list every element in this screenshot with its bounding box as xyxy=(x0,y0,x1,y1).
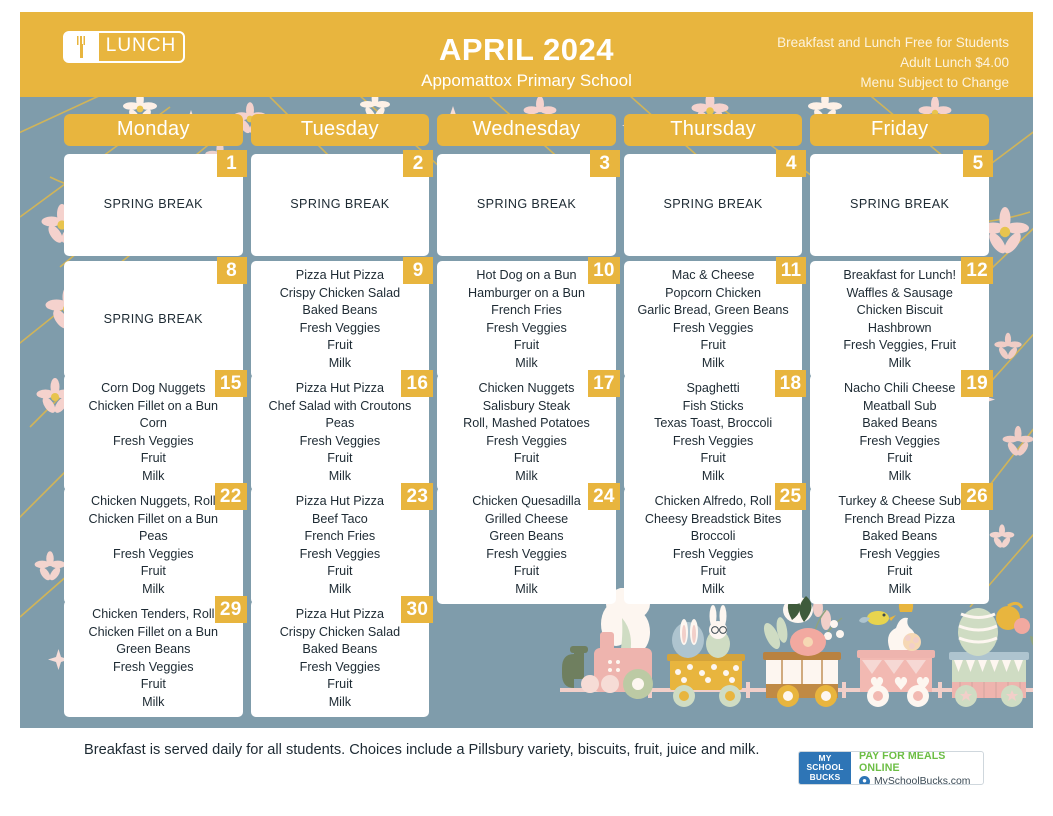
menu-item: Meatball Sub xyxy=(818,398,981,416)
menu-item-list: Pizza Hut PizzaBeef TacoFrench FriesFres… xyxy=(259,493,422,598)
calendar-week-row: 22Chicken Nuggets, RollChicken Fillet on… xyxy=(64,487,989,595)
menu-item: Baked Beans xyxy=(259,302,422,320)
menu-item: Milk xyxy=(259,581,422,599)
menu-item: Mac & Cheese xyxy=(632,267,795,285)
date-badge: 16 xyxy=(401,370,433,397)
menu-item: Fresh Veggies xyxy=(632,433,795,451)
date-badge: 25 xyxy=(775,483,807,510)
menu-item-list: Chicken Nuggets, RollChicken Fillet on a… xyxy=(72,493,235,598)
closed-notice: SPRING BREAK xyxy=(632,196,795,214)
menu-item: Fresh Veggies xyxy=(259,659,422,677)
calendar-day-cell[interactable]: 30Pizza Hut PizzaCrispy Chicken SaladBak… xyxy=(251,600,430,717)
calendar-day-cell[interactable]: 15Corn Dog NuggetsChicken Fillet on a Bu… xyxy=(64,374,243,491)
menu-item: Roll, Mashed Potatoes xyxy=(445,415,608,433)
menu-item: Fresh Veggies xyxy=(259,546,422,564)
menu-item: Milk xyxy=(72,694,235,712)
closed-label: SPRING BREAK xyxy=(445,196,608,214)
calendar-cell-empty xyxy=(810,600,989,717)
calendar-day-cell[interactable]: 25Chicken Alfredo, RollCheesy Breadstick… xyxy=(624,487,803,604)
menu-item: Chicken Biscuit xyxy=(818,302,981,320)
date-badge: 4 xyxy=(776,150,806,177)
myschoolbucks-banner[interactable]: MY SCHOOL BUCKS PAY FOR MEALS ONLINE ● M… xyxy=(798,751,984,785)
closed-label: SPRING BREAK xyxy=(72,196,235,214)
menu-item: Milk xyxy=(445,468,608,486)
menu-item-list: Chicken NuggetsSalisbury SteakRoll, Mash… xyxy=(445,380,608,485)
menu-item: Corn xyxy=(72,415,235,433)
calendar-day-cell[interactable]: 1SPRING BREAK xyxy=(64,154,243,256)
calendar-cell-empty xyxy=(624,600,803,717)
calendar-day-cell[interactable]: 5SPRING BREAK xyxy=(810,154,989,256)
menu-item: Cheesy Breadstick Bites xyxy=(632,511,795,529)
calendar-day-cell[interactable]: 10Hot Dog on a BunHamburger on a BunFren… xyxy=(437,261,616,378)
date-badge: 18 xyxy=(775,370,807,397)
menu-item: Fresh Veggies xyxy=(818,546,981,564)
menu-item: Fruit xyxy=(259,337,422,355)
day-header-friday: Friday xyxy=(810,114,989,146)
menu-item-list: Pizza Hut PizzaChef Salad with CroutonsP… xyxy=(259,380,422,485)
menu-item: Nacho Chili Cheese xyxy=(818,380,981,398)
menu-item: Fish Sticks xyxy=(632,398,795,416)
menu-item: French Fries xyxy=(445,302,608,320)
menu-item: Chicken Fillet on a Bun xyxy=(72,511,235,529)
menu-item: Fruit xyxy=(445,337,608,355)
menu-item: Fresh Veggies xyxy=(445,433,608,451)
day-name-row: Monday Tuesday Wednesday Thursday Friday xyxy=(64,114,989,146)
calendar-day-cell[interactable]: 12Breakfast for Lunch!Waffles & SausageC… xyxy=(810,261,989,378)
menu-item: Fruit xyxy=(445,563,608,581)
calendar-week-row: 29Chicken Tenders, RollChicken Fillet on… xyxy=(64,600,989,708)
fork-icon xyxy=(65,33,99,61)
menu-item: Fruit xyxy=(72,450,235,468)
myschoolbucks-text: PAY FOR MEALS ONLINE ● MySchoolBucks.com xyxy=(851,752,983,784)
menu-item: Salisbury Steak xyxy=(445,398,608,416)
date-badge: 5 xyxy=(963,150,993,177)
date-badge: 29 xyxy=(215,596,247,623)
menu-item: Baked Beans xyxy=(259,641,422,659)
msb-badge-line3: BUCKS xyxy=(810,773,841,782)
menu-item: Fresh Veggies xyxy=(72,546,235,564)
date-badge: 2 xyxy=(403,150,433,177)
menu-item: Crispy Chicken Salad xyxy=(259,624,422,642)
menu-item: Hashbrown xyxy=(818,320,981,338)
menu-item: Fresh Veggies xyxy=(632,320,795,338)
menu-item: Chicken Quesadilla xyxy=(445,493,608,511)
date-badge: 8 xyxy=(217,257,247,284)
menu-item: Fresh Veggies xyxy=(259,433,422,451)
menu-item: Spaghetti xyxy=(632,380,795,398)
day-header-monday: Monday xyxy=(64,114,243,146)
menu-item: Milk xyxy=(632,468,795,486)
menu-item: Fruit xyxy=(632,563,795,581)
date-badge: 10 xyxy=(588,257,620,284)
menu-item: Peas xyxy=(259,415,422,433)
breakfast-note: Breakfast is served daily for all studen… xyxy=(84,742,759,758)
menu-item-list: Chicken QuesadillaGrilled CheeseGreen Be… xyxy=(445,493,608,598)
menu-item: Fruit xyxy=(818,450,981,468)
menu-item-list: Pizza Hut PizzaCrispy Chicken SaladBaked… xyxy=(259,606,422,711)
menu-item: Milk xyxy=(632,581,795,599)
menu-item: Fruit xyxy=(259,563,422,581)
menu-item: Garlic Bread, Green Beans xyxy=(632,302,795,320)
calendar-day-cell[interactable]: 18SpaghettiFish SticksTexas Toast, Brocc… xyxy=(624,374,803,491)
menu-item: Fresh Veggies xyxy=(259,320,422,338)
date-badge: 22 xyxy=(215,483,247,510)
menu-item: Corn Dog Nuggets xyxy=(72,380,235,398)
date-badge: 1 xyxy=(217,150,247,177)
date-badge: 19 xyxy=(961,370,993,397)
menu-item: Milk xyxy=(259,694,422,712)
date-badge: 17 xyxy=(588,370,620,397)
menu-item: Fruit xyxy=(632,450,795,468)
menu-item: Hot Dog on a Bun xyxy=(445,267,608,285)
calendar-weeks: 1SPRING BREAK2SPRING BREAK3SPRING BREAK4… xyxy=(64,154,989,708)
menu-item: Milk xyxy=(632,355,795,373)
menu-item: Fruit xyxy=(445,450,608,468)
calendar-day-cell[interactable]: 16Pizza Hut PizzaChef Salad with Crouton… xyxy=(251,374,430,491)
msb-website-row: ● MySchoolBucks.com xyxy=(859,776,983,786)
calendar-body: Monday Tuesday Wednesday Thursday Friday… xyxy=(20,97,1033,728)
menu-item: Broccoli xyxy=(632,528,795,546)
closed-label: SPRING BREAK xyxy=(259,196,422,214)
closed-label: SPRING BREAK xyxy=(818,196,981,214)
calendar-cell-empty xyxy=(437,600,616,717)
menu-item: Crispy Chicken Salad xyxy=(259,285,422,303)
menu-item: Milk xyxy=(818,581,981,599)
menu-item: Fresh Veggies xyxy=(445,546,608,564)
closed-notice: SPRING BREAK xyxy=(72,196,235,214)
menu-item: Fruit xyxy=(259,450,422,468)
lunch-logo-label: LUNCH xyxy=(99,33,183,61)
menu-item: Hamburger on a Bun xyxy=(445,285,608,303)
menu-item: Fresh Veggies xyxy=(72,659,235,677)
menu-item: Milk xyxy=(445,355,608,373)
calendar-day-cell[interactable]: 24Chicken QuesadillaGrilled CheeseGreen … xyxy=(437,487,616,604)
menu-item: Grilled Cheese xyxy=(445,511,608,529)
menu-item: Chicken Tenders, Roll xyxy=(72,606,235,624)
menu-item: Green Beans xyxy=(72,641,235,659)
day-header-tuesday: Tuesday xyxy=(251,114,430,146)
calendar-day-cell[interactable]: 22Chicken Nuggets, RollChicken Fillet on… xyxy=(64,487,243,604)
menu-item: Chicken Nuggets, Roll xyxy=(72,493,235,511)
calendar-grid: Monday Tuesday Wednesday Thursday Friday… xyxy=(20,97,1033,728)
menu-item: Baked Beans xyxy=(818,415,981,433)
menu-item: Milk xyxy=(72,581,235,599)
menu-item: Chicken Fillet on a Bun xyxy=(72,398,235,416)
calendar-day-cell[interactable]: 3SPRING BREAK xyxy=(437,154,616,256)
menu-item: Milk xyxy=(818,468,981,486)
closed-notice: SPRING BREAK xyxy=(72,311,235,329)
menu-item: Milk xyxy=(445,581,608,599)
calendar-day-cell[interactable]: 11Mac & CheesePopcorn ChickenGarlic Brea… xyxy=(624,261,803,378)
date-badge: 30 xyxy=(401,596,433,623)
menu-item: Green Beans xyxy=(445,528,608,546)
calendar-week-row: 15Corn Dog NuggetsChicken Fillet on a Bu… xyxy=(64,374,989,482)
lunch-logo: LUNCH xyxy=(63,31,185,63)
menu-item: Waffles & Sausage xyxy=(818,285,981,303)
menu-item: Fresh Veggies xyxy=(72,433,235,451)
menu-item: Fruit xyxy=(72,563,235,581)
menu-item: Fresh Veggies xyxy=(445,320,608,338)
lunch-menu-calendar-page: LUNCH APRIL 2024 Appomattox Primary Scho… xyxy=(0,0,1053,816)
date-badge: 3 xyxy=(590,150,620,177)
menu-item: Chicken Alfredo, Roll xyxy=(632,493,795,511)
menu-item: Chicken Nuggets xyxy=(445,380,608,398)
calendar-day-cell[interactable]: 2SPRING BREAK xyxy=(251,154,430,256)
menu-item: Popcorn Chicken xyxy=(632,285,795,303)
menu-item-list: Breakfast for Lunch!Waffles & SausageChi… xyxy=(818,267,981,372)
menu-item: Fresh Veggies xyxy=(818,433,981,451)
menu-item: Beef Taco xyxy=(259,511,422,529)
menu-item: Pizza Hut Pizza xyxy=(259,267,422,285)
calendar-day-cell[interactable]: 4SPRING BREAK xyxy=(624,154,803,256)
calendar-day-cell[interactable]: 23Pizza Hut PizzaBeef TacoFrench FriesFr… xyxy=(251,487,430,604)
day-header-thursday: Thursday xyxy=(624,114,803,146)
calendar-day-cell[interactable]: 29Chicken Tenders, RollChicken Fillet on… xyxy=(64,600,243,717)
menu-item: Baked Beans xyxy=(818,528,981,546)
menu-item: Pizza Hut Pizza xyxy=(259,606,422,624)
menu-item-list: Corn Dog NuggetsChicken Fillet on a BunC… xyxy=(72,380,235,485)
header-note: Breakfast and Lunch Free for Students xyxy=(774,33,1009,53)
menu-item: Chef Salad with Croutons xyxy=(259,398,422,416)
menu-item: Pizza Hut Pizza xyxy=(259,380,422,398)
menu-item-list: Hot Dog on a BunHamburger on a BunFrench… xyxy=(445,267,608,372)
date-badge: 12 xyxy=(961,257,993,284)
menu-item: French Fries xyxy=(259,528,422,546)
calendar-week-row: 8SPRING BREAK9Pizza Hut PizzaCrispy Chic… xyxy=(64,261,989,369)
date-badge: 26 xyxy=(961,483,993,510)
menu-item: Texas Toast, Broccoli xyxy=(632,415,795,433)
date-badge: 24 xyxy=(588,483,620,510)
menu-item: Milk xyxy=(259,355,422,373)
menu-item-list: Pizza Hut PizzaCrispy Chicken SaladBaked… xyxy=(259,267,422,372)
myschoolbucks-logo: MY SCHOOL BUCKS xyxy=(799,752,851,784)
day-header-wednesday: Wednesday xyxy=(437,114,616,146)
calendar-day-cell[interactable]: 19Nacho Chili CheeseMeatball SubBaked Be… xyxy=(810,374,989,491)
calendar-day-cell[interactable]: 17Chicken NuggetsSalisbury SteakRoll, Ma… xyxy=(437,374,616,491)
menu-item-list: Turkey & Cheese SubFrench Bread PizzaBak… xyxy=(818,493,981,598)
menu-item: Breakfast for Lunch! xyxy=(818,267,981,285)
header-note: Menu Subject to Change xyxy=(774,73,1009,93)
menu-item-list: Mac & CheesePopcorn ChickenGarlic Bread,… xyxy=(632,267,795,372)
header-note: Adult Lunch $4.00 xyxy=(774,53,1009,73)
date-badge: 9 xyxy=(403,257,433,284)
menu-item: Peas xyxy=(72,528,235,546)
date-badge: 15 xyxy=(215,370,247,397)
date-badge: 11 xyxy=(776,257,807,284)
closed-notice: SPRING BREAK xyxy=(818,196,981,214)
calendar-day-cell[interactable]: 8SPRING BREAK xyxy=(64,261,243,378)
closed-notice: SPRING BREAK xyxy=(445,196,608,214)
msb-website: MySchoolBucks.com xyxy=(874,776,970,786)
closed-notice: SPRING BREAK xyxy=(259,196,422,214)
date-badge: 23 xyxy=(401,483,433,510)
closed-label: SPRING BREAK xyxy=(632,196,795,214)
menu-item: Pizza Hut Pizza xyxy=(259,493,422,511)
closed-label: SPRING BREAK xyxy=(72,311,235,329)
menu-item: Milk xyxy=(72,468,235,486)
menu-item: Fruit xyxy=(632,337,795,355)
calendar-day-cell[interactable]: 9Pizza Hut PizzaCrispy Chicken SaladBake… xyxy=(251,261,430,378)
menu-item-list: Chicken Alfredo, RollCheesy Breadstick B… xyxy=(632,493,795,598)
page-header: LUNCH APRIL 2024 Appomattox Primary Scho… xyxy=(20,12,1033,97)
menu-item: Fresh Veggies xyxy=(632,546,795,564)
menu-item: Turkey & Cheese Sub xyxy=(818,493,981,511)
menu-item: Fresh Veggies, Fruit xyxy=(818,337,981,355)
menu-item: Milk xyxy=(259,468,422,486)
menu-item: Fruit xyxy=(72,676,235,694)
menu-item: Milk xyxy=(818,355,981,373)
menu-item-list: SpaghettiFish SticksTexas Toast, Broccol… xyxy=(632,380,795,485)
msb-headline: PAY FOR MEALS ONLINE xyxy=(859,751,983,774)
menu-item: Fruit xyxy=(259,676,422,694)
globe-icon: ● xyxy=(859,776,870,786)
calendar-day-cell[interactable]: 26Turkey & Cheese SubFrench Bread PizzaB… xyxy=(810,487,989,604)
menu-item-list: Chicken Tenders, RollChicken Fillet on a… xyxy=(72,606,235,711)
menu-item: French Bread Pizza xyxy=(818,511,981,529)
menu-item: Fruit xyxy=(818,563,981,581)
calendar-week-row: 1SPRING BREAK2SPRING BREAK3SPRING BREAK4… xyxy=(64,154,989,256)
menu-item-list: Nacho Chili CheeseMeatball SubBaked Bean… xyxy=(818,380,981,485)
menu-item: Chicken Fillet on a Bun xyxy=(72,624,235,642)
